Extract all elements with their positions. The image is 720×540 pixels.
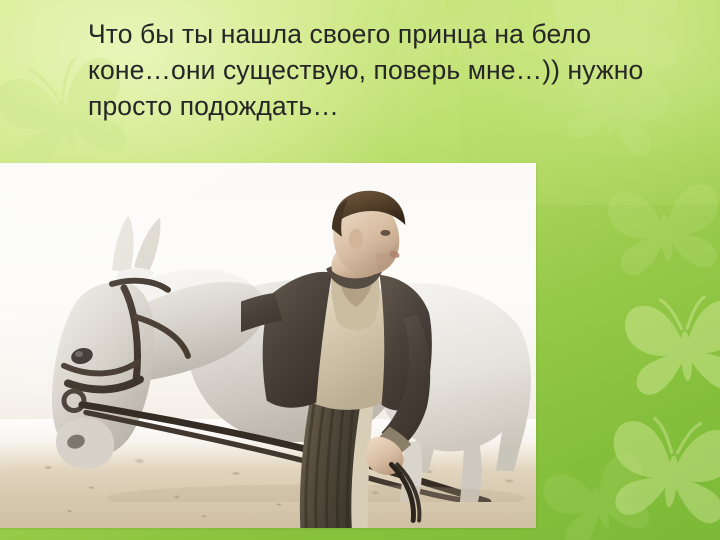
slide-photo xyxy=(0,163,536,528)
slide-caption-text: Что бы ты нашла своего принца на бело ко… xyxy=(88,16,658,124)
photo-highlight-wash xyxy=(0,163,536,528)
slide-canvas: Что бы ты нашла своего принца на бело ко… xyxy=(0,0,720,540)
